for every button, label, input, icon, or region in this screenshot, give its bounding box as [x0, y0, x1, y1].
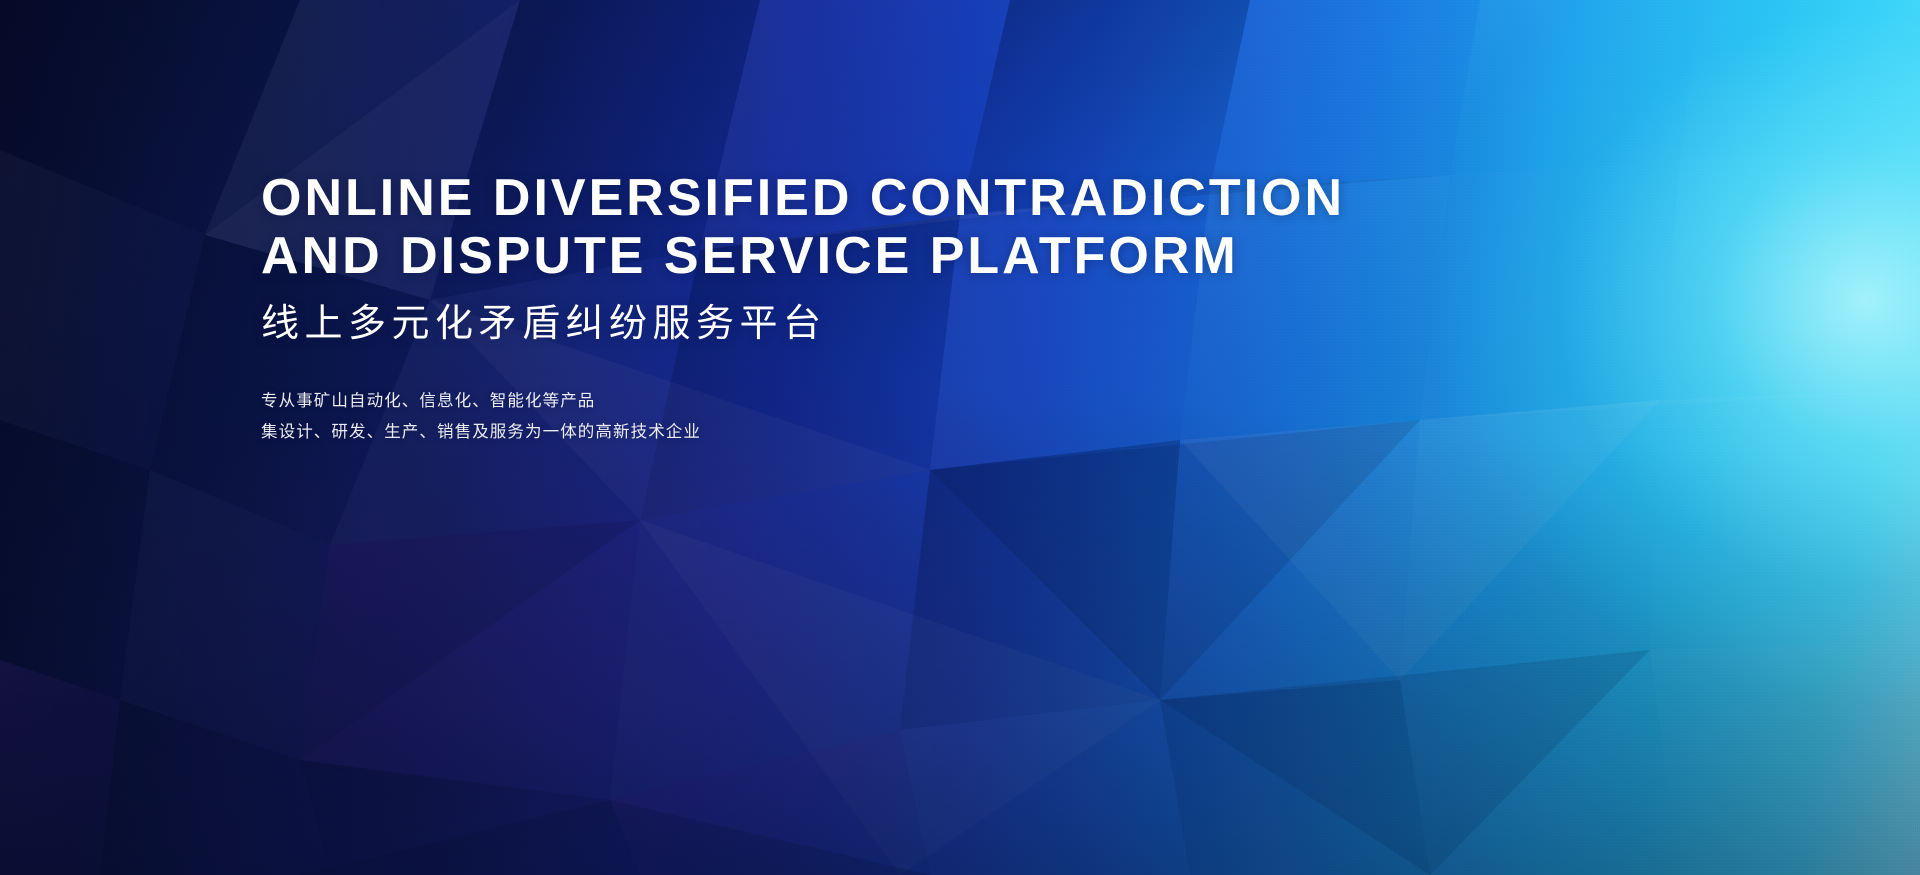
banner-content: ONLINE DIVERSIFIED CONTRADICTION AND DIS…	[261, 172, 1461, 448]
headline-line-1: ONLINE DIVERSIFIED CONTRADICTION	[261, 172, 1461, 224]
hero-banner: ONLINE DIVERSIFIED CONTRADICTION AND DIS…	[0, 0, 1920, 875]
description-line-1: 专从事矿山自动化、信息化、智能化等产品	[261, 386, 1461, 417]
company-description: 专从事矿山自动化、信息化、智能化等产品 集设计、研发、生产、销售及服务为一体的高…	[261, 386, 1461, 448]
description-line-2: 集设计、研发、生产、销售及服务为一体的高新技术企业	[261, 417, 1461, 448]
subtitle-chinese: 线上多元化矛盾纠纷服务平台	[261, 302, 1461, 346]
headline-line-2: AND DISPUTE SERVICE PLATFORM	[261, 230, 1461, 282]
